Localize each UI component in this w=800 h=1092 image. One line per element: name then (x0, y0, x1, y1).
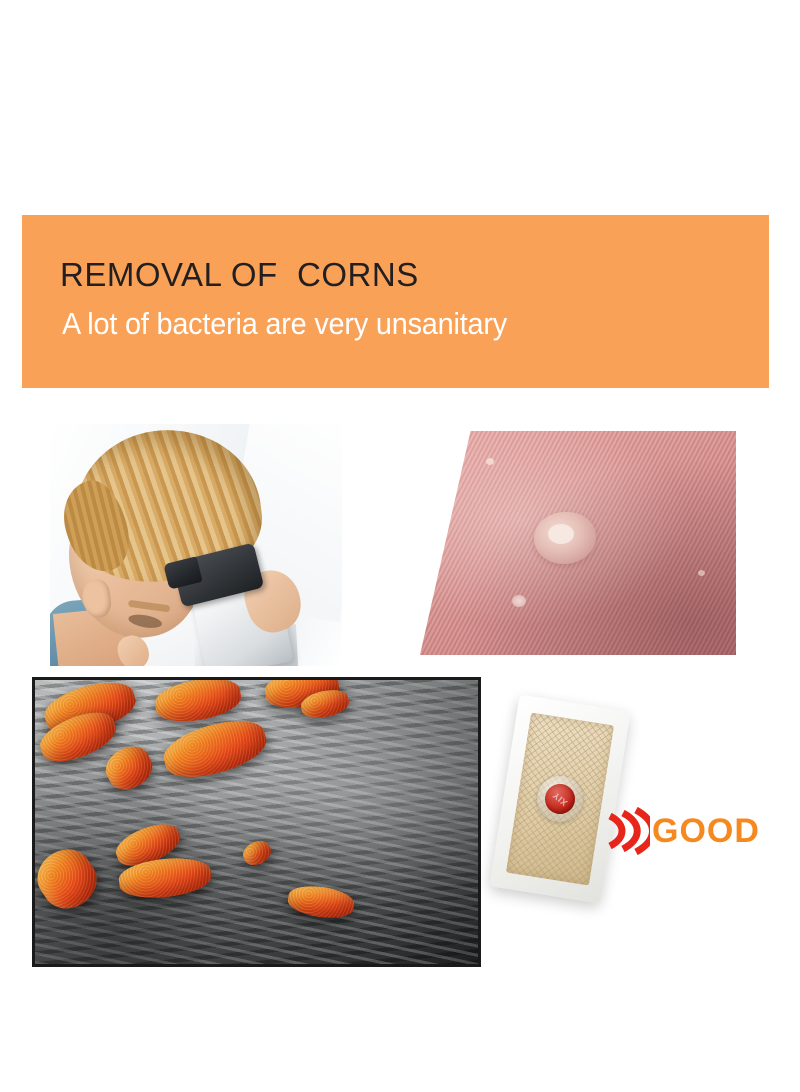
page-title: REMOVAL OF CORNS (60, 257, 419, 293)
page-subtitle: A lot of bacteria are very unsanitary (62, 307, 507, 341)
scientist-microscope-photo (50, 424, 342, 666)
patch-seal-red: XIY (543, 782, 577, 816)
product-detail-page: REMOVAL OF CORNS A lot of bacteria are v… (0, 0, 800, 1092)
patch-backing: XIY (490, 694, 631, 903)
bacteria-micrograph-photo (32, 677, 481, 967)
skin-blemish-1 (512, 595, 526, 607)
patch-seal-label: XIY (539, 778, 581, 820)
eyebrow (128, 600, 171, 613)
signal-wave-icon (604, 806, 650, 856)
skin-blemish-3 (698, 570, 705, 576)
good-badge-label: GOOD (652, 810, 760, 852)
corn-removal-patch: XIY (490, 694, 631, 903)
corn-callus (534, 512, 596, 564)
eye (127, 612, 163, 630)
headline-banner: REMOVAL OF CORNS A lot of bacteria are v… (22, 215, 769, 388)
skin-corn-photo (420, 431, 736, 655)
